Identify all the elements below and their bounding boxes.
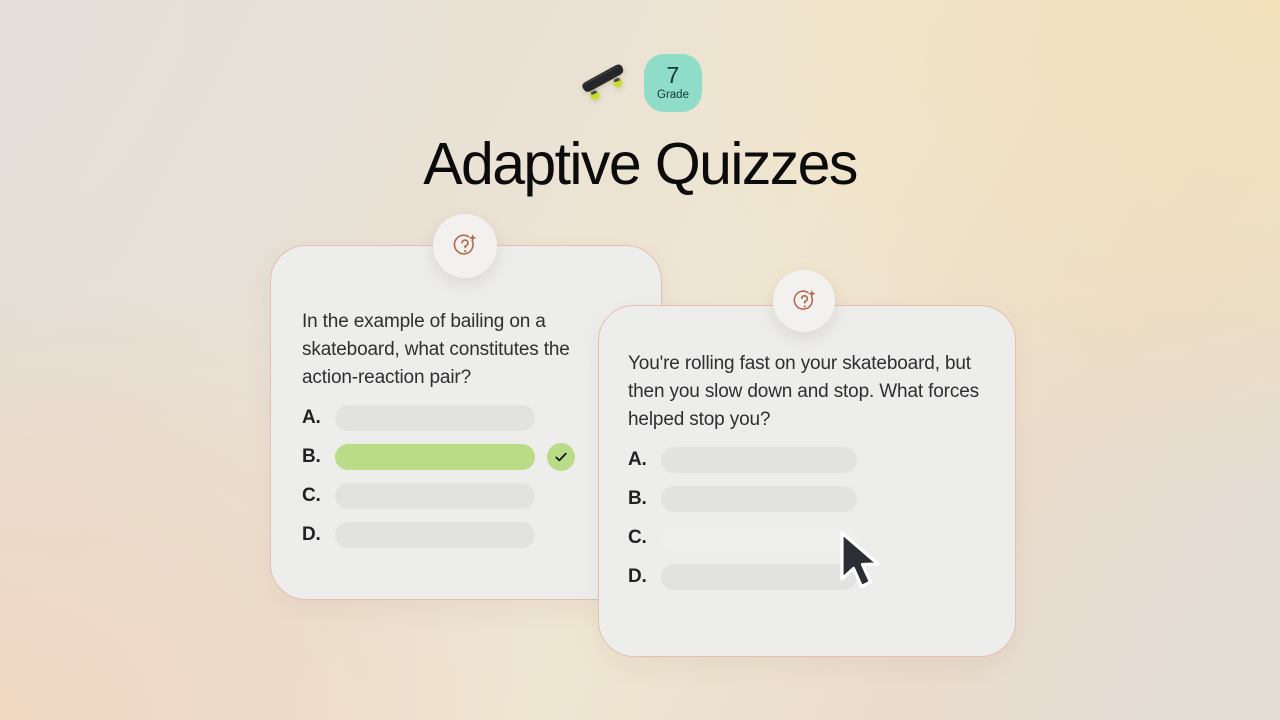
option-bar[interactable]: [661, 447, 857, 473]
grade-number: 7: [667, 64, 680, 87]
skateboard-icon: [575, 61, 633, 105]
option-row[interactable]: C.: [628, 524, 988, 552]
options-list: A. B. C. D.: [302, 404, 632, 560]
option-bar[interactable]: [661, 564, 857, 590]
option-letter: A.: [302, 407, 335, 429]
correct-check-badge: [547, 443, 575, 471]
option-letter: D.: [302, 524, 335, 546]
quiz-card-2[interactable]: You're rolling fast on your skateboard, …: [598, 305, 1016, 657]
option-bar[interactable]: [335, 444, 535, 470]
option-letter: D.: [628, 566, 661, 588]
grade-label: Grade: [657, 90, 689, 102]
option-letter: C.: [302, 485, 335, 507]
quiz-sparkle-icon-badge: [433, 214, 497, 278]
option-row[interactable]: B.: [628, 485, 988, 513]
option-letter: C.: [628, 527, 661, 549]
option-row[interactable]: D.: [302, 521, 632, 549]
quiz-sparkle-icon: [790, 287, 819, 316]
option-row[interactable]: A.: [302, 404, 632, 432]
header-badge-row: 7 Grade: [578, 48, 702, 118]
header: 7 Grade Adaptive Quizzes: [0, 48, 1280, 198]
option-letter: A.: [628, 449, 661, 471]
quiz-sparkle-icon: [450, 231, 480, 261]
option-bar[interactable]: [335, 405, 535, 431]
quiz-sparkle-icon-badge: [773, 270, 835, 332]
grade-badge: 7 Grade: [644, 54, 702, 112]
option-bar[interactable]: [335, 522, 535, 548]
option-row[interactable]: B.: [302, 443, 632, 471]
option-bar[interactable]: [335, 483, 535, 509]
options-list: A. B. C. D.: [628, 446, 988, 602]
option-letter: B.: [628, 488, 661, 510]
option-letter: B.: [302, 446, 335, 468]
option-row[interactable]: A.: [628, 446, 988, 474]
question-text: In the example of bailing on a skateboar…: [302, 308, 592, 392]
option-bar[interactable]: [661, 525, 857, 551]
page-title: Adaptive Quizzes: [423, 130, 857, 198]
option-bar[interactable]: [661, 486, 857, 512]
question-text: You're rolling fast on your skateboard, …: [628, 350, 1000, 434]
option-row[interactable]: D.: [628, 563, 988, 591]
option-row[interactable]: C.: [302, 482, 632, 510]
